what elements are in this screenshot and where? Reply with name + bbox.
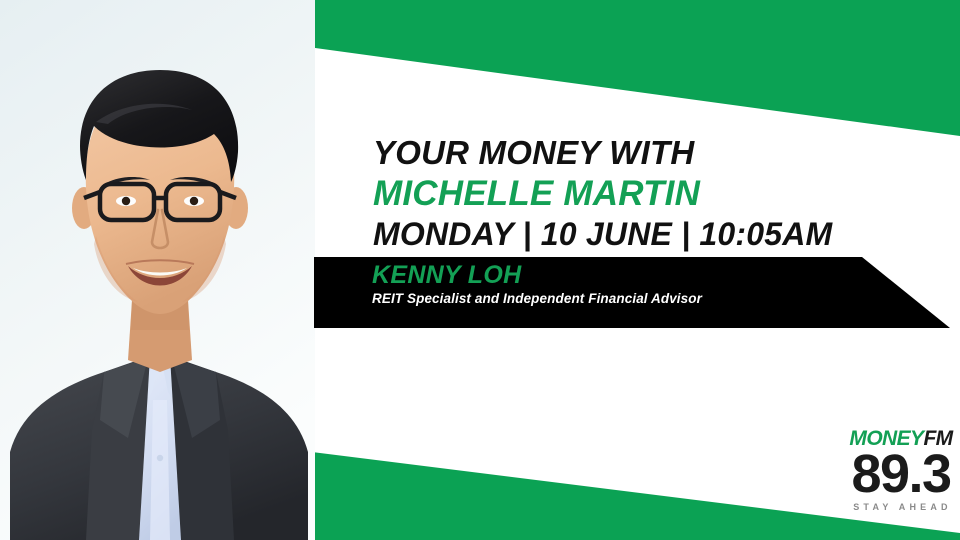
guest-name: KENNY LOH — [372, 262, 892, 288]
guest-role: REIT Specialist and Independent Financia… — [372, 291, 892, 306]
guest-portrait-image — [0, 0, 315, 540]
station-tagline: STAY AHEAD — [848, 502, 957, 512]
headline-block: YOUR MONEY WITH MICHELLE MARTIN MONDAY |… — [373, 136, 933, 250]
guest-info-block: KENNY LOH REIT Specialist and Independen… — [372, 262, 892, 306]
station-frequency: 89.3 — [845, 450, 957, 500]
promo-graphic: YOUR MONEY WITH MICHELLE MARTIN MONDAY |… — [0, 0, 960, 540]
station-logo: MONEYFM 89.3 STAY AHEAD — [845, 428, 957, 512]
guest-photo-panel — [0, 0, 315, 540]
schedule-line: MONDAY | 10 JUNE | 10:05AM — [373, 218, 933, 250]
show-title-line: YOUR MONEY WITH — [373, 136, 933, 169]
host-name-line: MICHELLE MARTIN — [373, 176, 933, 211]
